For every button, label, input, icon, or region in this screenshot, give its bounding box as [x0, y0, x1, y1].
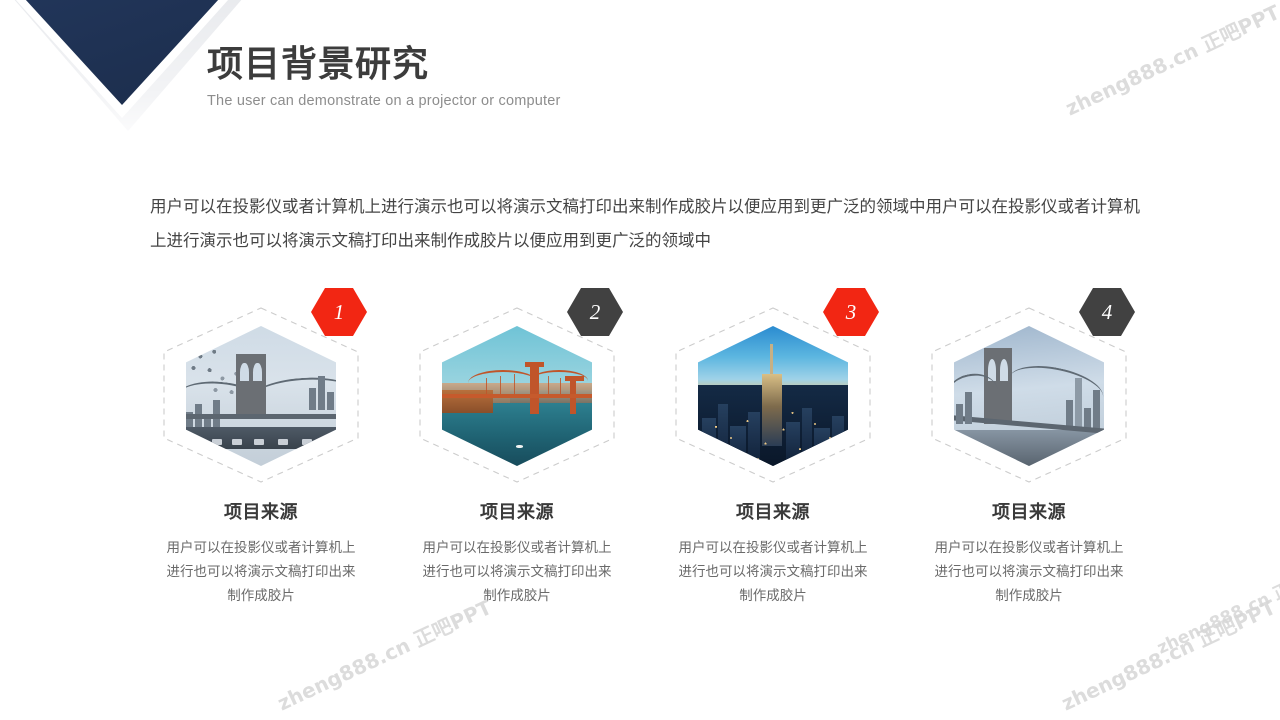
- slide-canvas: 项目背景研究 The user can demonstrate on a pro…: [0, 0, 1280, 720]
- watermark: zheng888.cn 正吧PPT: [1152, 552, 1280, 658]
- card-description: 用户可以在投影仪或者计算机上进行也可以将演示文稿打印出来制作成胶片: [678, 536, 868, 608]
- hexagon-card[interactable]: 4 项目来源 用户可以在投影仪或者计算机上进行也可以将演示文稿打印出来制作成胶片: [918, 288, 1140, 608]
- hexagon-zone: 3: [673, 288, 873, 482]
- card-title: 项目来源: [480, 498, 554, 524]
- hexagon-zone: 2: [417, 288, 617, 482]
- hexagon-zone: 4: [929, 288, 1129, 482]
- card-title: 项目来源: [224, 498, 298, 524]
- hexagon-card[interactable]: 1 项目来源 用户可以在投影仪或者计算机上进行也可以将演示文稿打印出来制作成胶片: [150, 288, 372, 608]
- hexagon-card[interactable]: 2 项目来源 用户可以在投影仪或者计算机上进行也可以将演示文稿打印出来制作成胶片: [406, 288, 628, 608]
- card-description: 用户可以在投影仪或者计算机上进行也可以将演示文稿打印出来制作成胶片: [166, 536, 356, 608]
- card-title: 项目来源: [736, 498, 810, 524]
- card-description: 用户可以在投影仪或者计算机上进行也可以将演示文稿打印出来制作成胶片: [422, 536, 612, 608]
- slide-header: 项目背景研究 The user can demonstrate on a pro…: [207, 45, 561, 109]
- page-subtitle: The user can demonstrate on a projector …: [207, 93, 561, 109]
- card-number: 3: [846, 300, 857, 325]
- card-title: 项目来源: [992, 498, 1066, 524]
- watermark: zheng888.cn 正吧PPT: [1060, 0, 1280, 121]
- card-number: 2: [590, 300, 601, 325]
- card-description: 用户可以在投影仪或者计算机上进行也可以将演示文稿打印出来制作成胶片: [934, 536, 1124, 608]
- watermark: zheng888.cn 正吧PPT: [1056, 591, 1280, 716]
- watermark: zheng888.cn 正吧PPT: [272, 591, 496, 716]
- intro-paragraph: 用户可以在投影仪或者计算机上进行演示也可以将演示文稿打印出来制作成胶片以便应用到…: [150, 190, 1140, 258]
- hexagon-card[interactable]: 3 项目来源 用户可以在投影仪或者计算机上进行也可以将演示文稿打印出来制作成胶片: [662, 288, 884, 608]
- hexagon-zone: 1: [161, 288, 361, 482]
- card-number: 1: [334, 300, 345, 325]
- page-title: 项目背景研究: [207, 45, 561, 85]
- card-number: 4: [1102, 300, 1113, 325]
- hexagon-card-row: 1 项目来源 用户可以在投影仪或者计算机上进行也可以将演示文稿打印出来制作成胶片: [150, 288, 1140, 608]
